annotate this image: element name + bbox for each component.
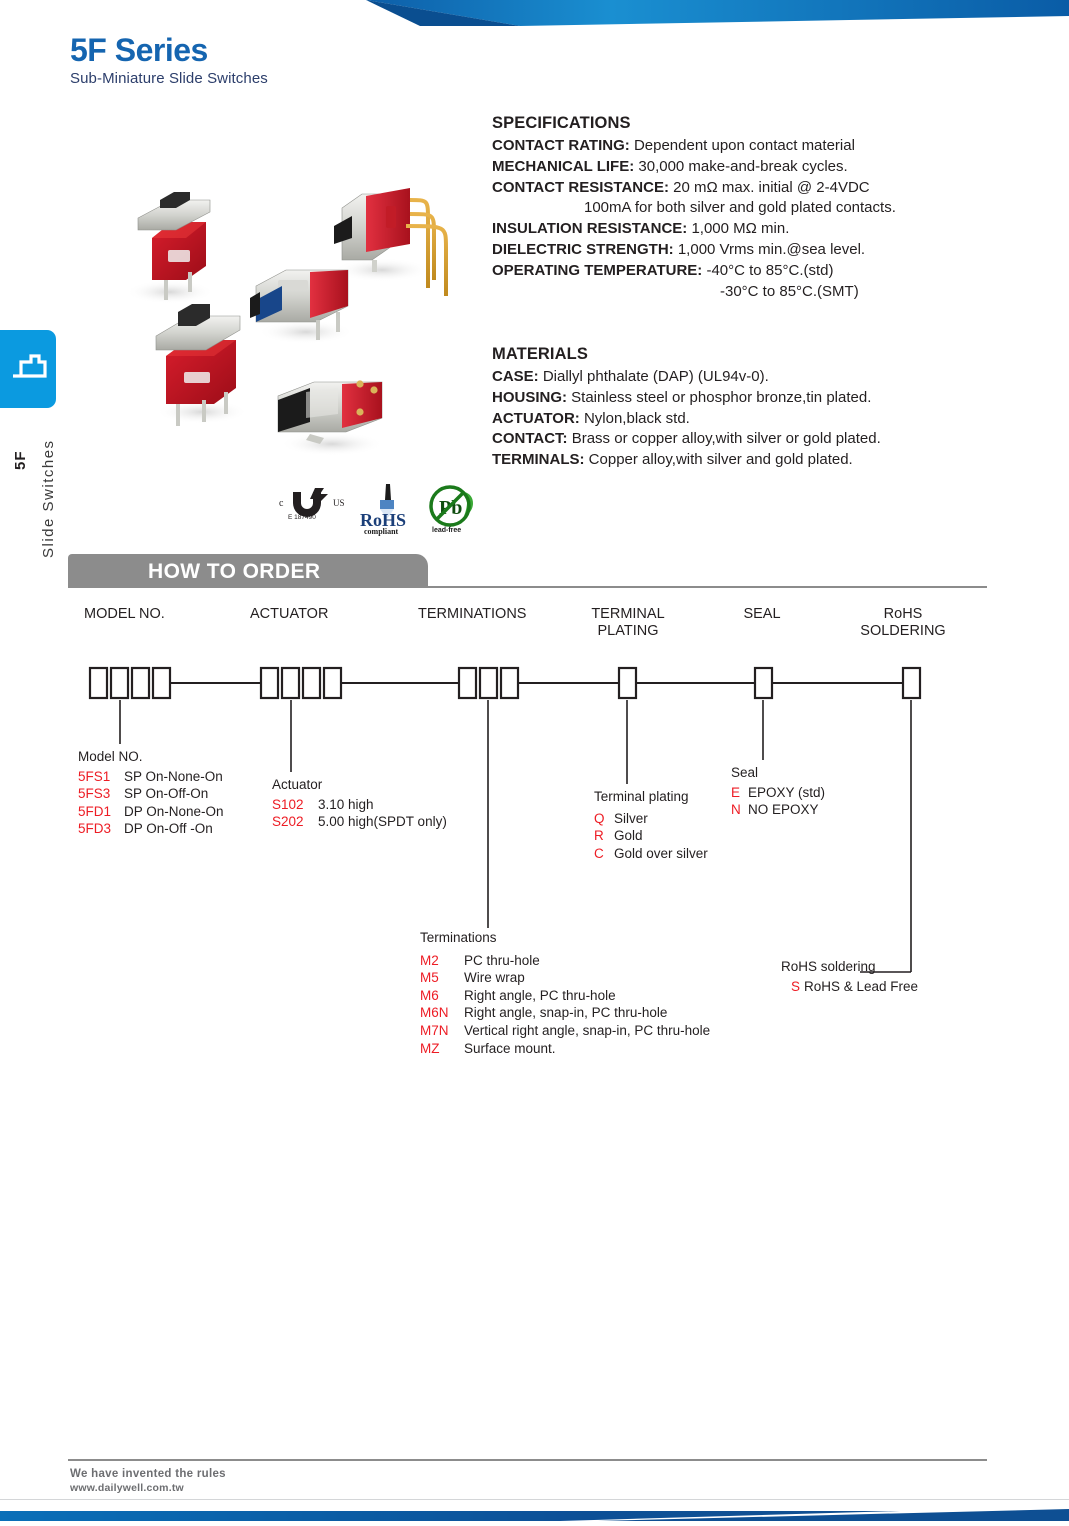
column-header-seal: SEAL: [722, 606, 802, 623]
spec-row: CONTACT RATING: Dependent upon contact m…: [492, 136, 962, 157]
column-header-rohs-soldering-line1: RoHS: [838, 606, 968, 623]
footer-divider: [68, 1459, 987, 1461]
footer-website-url[interactable]: www.dailywell.com.tw: [70, 1482, 184, 1494]
sidebar-series-code: 5F: [12, 450, 29, 470]
column-header-terminations: TERMINATIONS: [418, 606, 558, 623]
material-row: HOUSING: Stainless steel or phosphor bro…: [492, 388, 962, 409]
spec-row: OPERATING TEMPERATURE: -40°C to 85°C.(st…: [492, 261, 962, 282]
rohs-compliant-logo-icon: RoHS compliant: [356, 482, 416, 541]
legend-terminal-plating: Terminal plating QSilver RGold CGold ove…: [594, 788, 708, 862]
page-subtitle: Sub-Miniature Slide Switches: [70, 70, 268, 87]
legend-row: EEPOXY (std): [731, 784, 825, 802]
column-header-actuator: ACTUATOR: [250, 606, 370, 623]
legend-row: SRoHS & Lead Free: [781, 978, 918, 996]
legend-row: QSilver: [594, 810, 708, 828]
how-to-order-divider: [68, 586, 987, 588]
svg-text:US: US: [333, 498, 345, 508]
spec-row-continuation: -30°C to 85°C.(SMT): [492, 282, 962, 303]
slide-switch-icon: [10, 350, 48, 389]
legend-title: Actuator: [272, 776, 447, 794]
spec-row: MECHANICAL LIFE: 30,000 make-and-break c…: [492, 157, 962, 178]
bottom-decorative-banner: [0, 1495, 1069, 1521]
legend-title: Model NO.: [78, 748, 224, 766]
legend-actuator: Actuator S1023.10 high S2025.00 high(SPD…: [272, 776, 447, 831]
page-title: 5F Series: [70, 32, 208, 69]
material-row: CASE: Diallyl phthalate (DAP) (UL94v-0).: [492, 367, 962, 388]
svg-text:c: c: [279, 498, 284, 509]
legend-title: Terminal plating: [594, 788, 708, 806]
legend-row: CGold over silver: [594, 845, 708, 863]
legend-row: 5FD3DP On-Off -On: [78, 820, 224, 838]
specifications-block: SPECIFICATIONS CONTACT RATING: Dependent…: [492, 114, 962, 302]
legend-row: M6NRight angle, snap-in, PC thru-hole: [420, 1004, 710, 1022]
legend-row: NNO EPOXY: [731, 801, 825, 819]
lead-free-logo-icon: Pb lead-free: [424, 482, 480, 541]
legend-row: S2025.00 high(SPDT only): [272, 813, 447, 831]
legend-row: M2PC thru-hole: [420, 952, 710, 970]
legend-seal: Seal EEPOXY (std) NNO EPOXY: [731, 764, 825, 819]
legend-terminations: Terminations M2PC thru-hole M5Wire wrap …: [420, 929, 710, 1057]
legend-row: RGold: [594, 827, 708, 845]
svg-text:compliant: compliant: [364, 527, 399, 536]
column-header-terminal-plating-line2: PLATING: [582, 623, 674, 640]
specifications-heading: SPECIFICATIONS: [492, 114, 962, 133]
spec-row: CONTACT RESISTANCE: 20 mΩ max. initial @…: [492, 178, 962, 199]
sidebar-category-label: Slide Switches: [40, 439, 57, 558]
spec-row: INSULATION RESISTANCE: 1,000 MΩ min.: [492, 219, 962, 240]
column-header-model-no: MODEL NO.: [84, 606, 204, 623]
legend-row: M5Wire wrap: [420, 969, 710, 987]
svg-text:lead-free: lead-free: [432, 527, 461, 534]
material-row: CONTACT: Brass or copper alloy,with silv…: [492, 429, 962, 450]
legend-row: S1023.10 high: [272, 796, 447, 814]
legend-row: M7NVertical right angle, snap-in, PC thr…: [420, 1022, 710, 1040]
materials-block: MATERIALS CASE: Diallyl phthalate (DAP) …: [492, 345, 962, 471]
ul-recognized-mark-icon: c US E 187490: [278, 484, 352, 529]
legend-row: 5FS1SP On-None-On: [78, 768, 224, 786]
material-row: TERMINALS: Copper alloy,with silver and …: [492, 450, 962, 471]
legend-row: 5FD1DP On-None-On: [78, 803, 224, 821]
legend-row: M6Right angle, PC thru-hole: [420, 987, 710, 1005]
top-decorative-banner: [0, 0, 1069, 26]
footer-slogan: We have invented the rules: [70, 1468, 226, 1480]
spec-row-continuation: 100mA for both silver and gold plated co…: [492, 198, 962, 219]
spec-row: DIELECTRIC STRENGTH: 1,000 Vrms min.@sea…: [492, 240, 962, 261]
legend-row: MZSurface mount.: [420, 1040, 710, 1058]
legend-title: RoHS soldering: [781, 958, 918, 976]
svg-text:E 187490: E 187490: [288, 514, 316, 521]
column-header-rohs-soldering-line2: SOLDERING: [838, 623, 968, 640]
material-row: ACTUATOR: Nylon,black std.: [492, 409, 962, 430]
legend-model-no: Model NO. 5FS1SP On-None-On 5FS3SP On-Of…: [78, 748, 224, 838]
materials-heading: MATERIALS: [492, 345, 962, 364]
certification-logo-group: c US E 187490 RoHS compliant Pb lead-fre…: [278, 482, 478, 538]
how-to-order-tab: HOW TO ORDER: [68, 554, 428, 588]
how-to-order-label: HOW TO ORDER: [148, 560, 320, 584]
legend-row: 5FS3SP On-Off-On: [78, 785, 224, 803]
legend-title: Seal: [731, 764, 825, 782]
column-header-terminal-plating-line1: TERMINAL: [582, 606, 674, 623]
legend-rohs-soldering: RoHS soldering SRoHS & Lead Free: [781, 958, 918, 995]
legend-title: Terminations: [420, 929, 710, 947]
sidebar-category-tab[interactable]: [0, 330, 56, 408]
product-photo-group: [110, 160, 470, 460]
